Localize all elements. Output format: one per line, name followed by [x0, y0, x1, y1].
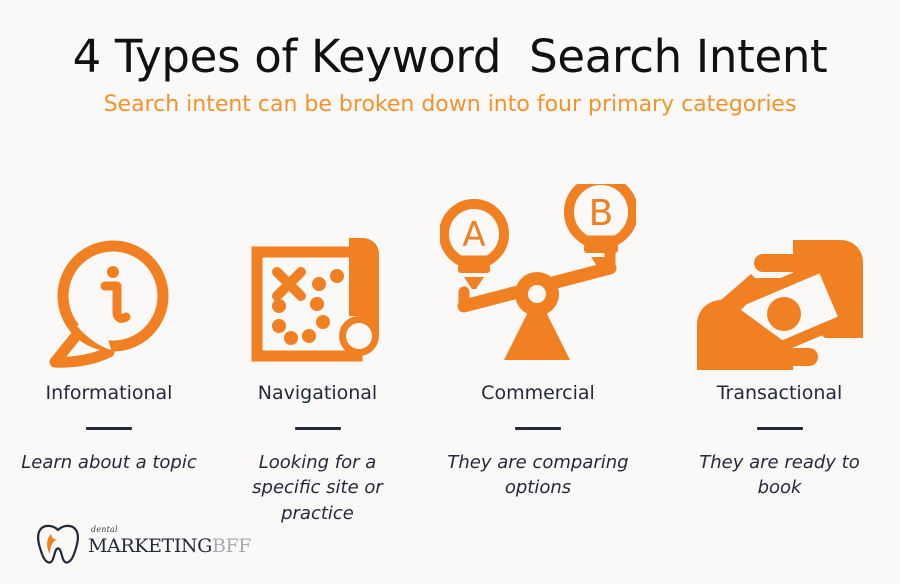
category-column-navigational: Navigational Looking for a specific site… [218, 170, 417, 526]
page-subtitle: Search intent can be broken down into fo… [0, 82, 900, 117]
category-label: Navigational [258, 382, 377, 405]
info-speech-bubble-icon [0, 170, 218, 370]
infographic-canvas: 4 Types of Keyword Search Intent Search … [0, 0, 900, 584]
category-label: Commercial [481, 382, 595, 405]
category-divider [515, 427, 561, 430]
page-title: 4 Types of Keyword Search Intent [0, 0, 900, 82]
tooth-logo-icon [36, 523, 80, 570]
scale-left-letter: A [462, 215, 485, 255]
category-divider [86, 427, 132, 430]
hands-exchanging-money-icon [659, 170, 900, 370]
category-description: They are comparing options [438, 450, 638, 501]
category-description: They are ready to book [680, 450, 880, 501]
logo-wordmark: dental MARKETINGBFF [88, 537, 251, 556]
category-divider [757, 427, 803, 430]
header: 4 Types of Keyword Search Intent Search … [0, 0, 900, 117]
treasure-map-scroll-icon [218, 170, 417, 370]
logo-bff-text: BFF [212, 535, 251, 557]
scale-right-letter: B [589, 193, 614, 234]
category-column-transactional: Transactional They are ready to book [659, 170, 900, 501]
category-column-informational: Informational Learn about a topic [0, 170, 218, 475]
category-column-commercial: A B Commercia [417, 170, 659, 501]
category-divider [295, 427, 341, 430]
balance-scale-lightbulbs-icon: A B [417, 170, 659, 370]
brand-logo[interactable]: dental MARKETINGBFF [36, 523, 251, 570]
category-columns: Informational Learn about a topic [0, 170, 900, 526]
logo-dental-text: dental [91, 526, 118, 534]
category-label: Informational [46, 382, 173, 405]
category-description: Looking for a specific site or practice [228, 450, 408, 527]
logo-marketing-text: MARKETING [88, 535, 212, 557]
category-label: Transactional [717, 382, 843, 405]
category-description: Learn about a topic [21, 450, 196, 476]
